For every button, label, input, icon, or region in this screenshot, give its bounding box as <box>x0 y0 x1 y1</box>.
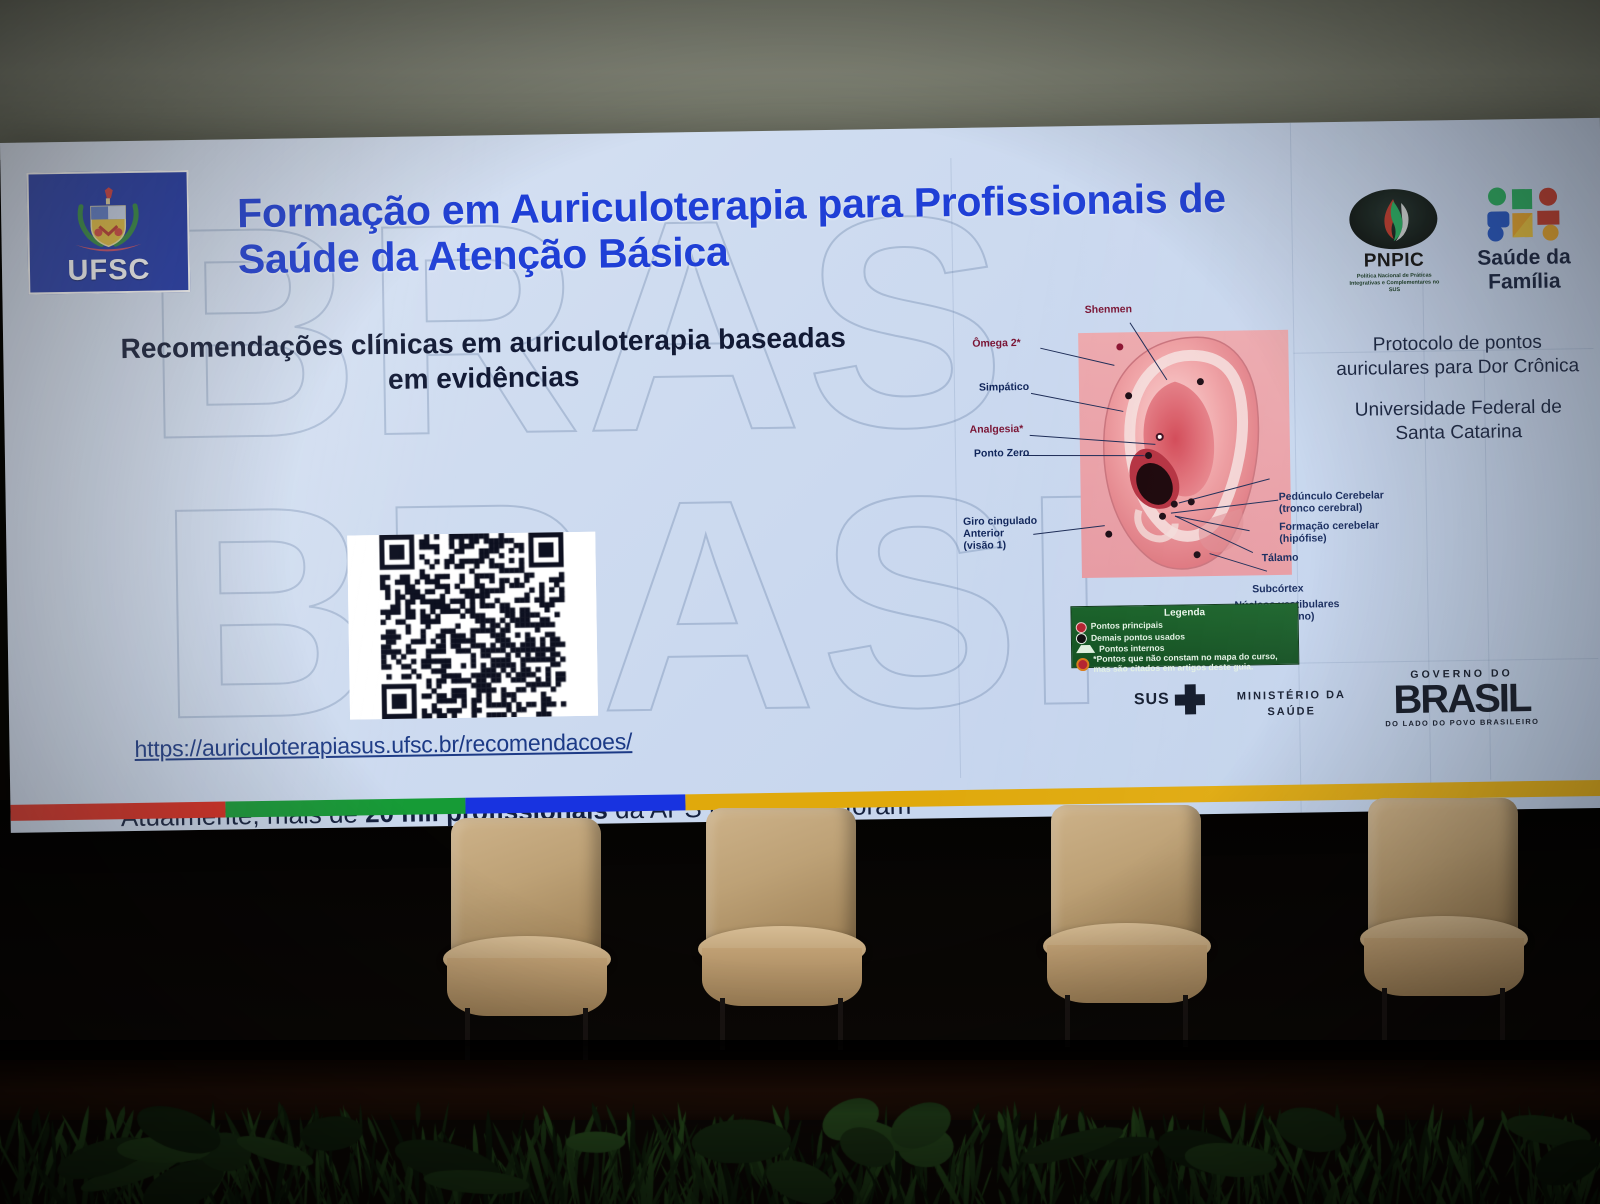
label-analgesia: Analgesia* <box>970 424 1024 437</box>
cross-icon <box>1175 684 1205 714</box>
slide-title: Formação em Auriculoterapia para Profiss… <box>237 174 1308 283</box>
legend-symbol-nao-mapa <box>1076 658 1089 671</box>
qr-code[interactable] <box>347 532 598 720</box>
foreground-plants <box>0 1040 1600 1204</box>
saude-familia-line2: Família <box>1464 270 1584 294</box>
label-formacao: Formação cerebelar (hipófise) <box>1279 520 1379 545</box>
governo-brasil-logo: GOVERNO DO BRASIL DO LADO DO POVO BRASIL… <box>1376 667 1547 729</box>
legend-text-1: Pontos principais <box>1091 621 1163 632</box>
legend-symbol-demais <box>1076 633 1087 644</box>
governo-brasil-wordmark: BRASIL <box>1377 679 1548 720</box>
label-omega-2: Ômega 2* <box>972 338 1021 351</box>
ministerio-line1: MINISTÉRIO DA <box>1237 689 1346 703</box>
ministerio-saude-logo: MINISTÉRIO DA SAÚDE <box>1237 688 1347 722</box>
ear-acupoint-diagram: Shenmen Ômega 2* Simpático Analgesia* Po… <box>958 296 1433 623</box>
legend-symbol-internos <box>1076 645 1095 653</box>
family-blocks-icon <box>1484 184 1563 245</box>
point-ponto-zero <box>1145 452 1152 459</box>
recommendations-url[interactable]: https://auriculoterapiasus.ufsc.br/recom… <box>134 726 794 763</box>
label-shenmen: Shenmen <box>1085 304 1132 316</box>
legend-symbol-principal <box>1076 621 1087 632</box>
label-talamo: Tálamo <box>1262 553 1299 565</box>
point-simpatico <box>1125 392 1132 399</box>
projected-slide: BRAS BRASI <box>0 118 1600 833</box>
pnpic-acronym: PNPIC <box>1344 249 1444 273</box>
label-ponto-zero: Ponto Zero <box>974 448 1030 461</box>
label-pedunculo: Pedúnculo Cerebelar (tronco cerebral) <box>1279 490 1384 515</box>
ufsc-crest-icon <box>67 186 150 259</box>
label-subcortex: Subcórtex <box>1252 584 1304 597</box>
saude-da-familia-logo: Saúde da Família <box>1463 184 1585 294</box>
label-simpatico: Simpático <box>979 382 1029 395</box>
legend-row: *Pontos que não constam no mapa do curso… <box>1076 652 1294 675</box>
point-talamo <box>1159 513 1166 520</box>
point-subcortex <box>1194 551 1201 558</box>
label-giro-cingulado: Giro cingulado Anterior (visão 1) <box>963 516 1038 552</box>
pnpic-flame-icon <box>1349 188 1438 249</box>
pnpic-logo: PNPIC Política Nacional de Práticas Inte… <box>1343 188 1445 294</box>
legend-text-4: *Pontos que não constam no mapa do curso… <box>1093 652 1294 675</box>
legend-text-2: Demais pontos usados <box>1091 632 1185 643</box>
point-analgesia <box>1156 433 1164 441</box>
ear-illustration <box>1078 330 1292 578</box>
point-omega2 <box>1116 343 1123 350</box>
point-giro-cingulado <box>1105 531 1112 538</box>
sus-label: SUS <box>1134 691 1170 710</box>
sus-logo: SUS <box>1134 684 1205 715</box>
point-formacao <box>1188 498 1195 505</box>
slide-subtitle: Recomendações clínicas em auriculoterapi… <box>113 320 854 402</box>
point-shenmen <box>1197 378 1204 385</box>
color-bar-red <box>10 802 225 821</box>
ufsc-label: UFSC <box>67 256 150 292</box>
point-pedunculo <box>1171 501 1178 508</box>
saude-familia-line1: Saúde da <box>1464 246 1584 270</box>
pnpic-expansion: Política Nacional de Práticas Integrativ… <box>1344 272 1444 294</box>
ministerio-line2: SAÚDE <box>1267 705 1316 718</box>
governo-tagline: DO LADO DO POVO BRASILEIRO <box>1377 717 1547 729</box>
diagram-legend: Legenda Pontos principais Demais pontos … <box>1070 603 1299 669</box>
ufsc-logo: UFSC <box>26 170 190 295</box>
screenshot-root: BRAS BRASI <box>0 0 1600 1204</box>
